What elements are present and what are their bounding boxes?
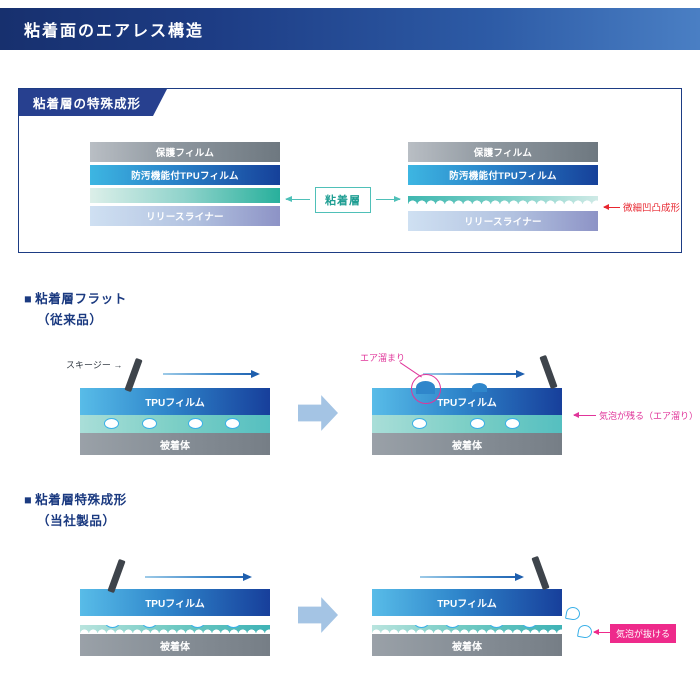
motion-arrow bbox=[145, 576, 250, 578]
page-title: 粘着面のエアレス構造 bbox=[0, 17, 204, 41]
tpu-film-band: TPUフィルム bbox=[372, 388, 562, 415]
substrate-band: 被着体 bbox=[372, 634, 562, 656]
pink-arrow-icon bbox=[574, 415, 596, 416]
air-bubble bbox=[142, 418, 157, 429]
air-pocket-annotation-label: エア溜まり bbox=[360, 351, 405, 364]
air-bubble bbox=[470, 418, 485, 429]
panel-tab-label: 粘着層の特殊成形 bbox=[19, 89, 167, 116]
squeegee-icon bbox=[539, 355, 557, 389]
page-header: 粘着面のエアレス構造 bbox=[0, 8, 700, 50]
substrate-band: 被着体 bbox=[80, 634, 270, 656]
adhesive-arrow-left bbox=[286, 199, 310, 200]
layer-release-liner: リリースライナー bbox=[408, 211, 598, 231]
escaping-bubble bbox=[565, 606, 581, 621]
process-chevron-icon bbox=[298, 596, 338, 634]
diagram-flat-before: TPUフィルム 被着体 bbox=[80, 388, 270, 455]
air-bubble bbox=[522, 617, 537, 628]
layer-adhesive-textured bbox=[408, 188, 598, 205]
page-root: 粘着面のエアレス構造 粘着層の特殊成形 保護フィルム 防汚機能付TPUフィルム … bbox=[0, 0, 700, 700]
bullet-marker-icon: ■ bbox=[24, 493, 32, 507]
air-escape-annotation-label: 気泡が抜ける bbox=[610, 624, 676, 643]
adhesive-callout-label: 粘着層 bbox=[315, 187, 371, 213]
air-bubble bbox=[412, 418, 427, 429]
tpu-film-band: TPUフィルム bbox=[80, 589, 270, 616]
squeegee-icon bbox=[531, 556, 549, 590]
air-bubble bbox=[445, 617, 460, 628]
section-subheading-flat: （従来品） bbox=[24, 309, 103, 328]
section-heading-formed-label: 粘着層特殊成形 bbox=[35, 493, 127, 507]
tpu-film-band: TPUフィルム bbox=[372, 589, 562, 616]
layer-protective-film: 保護フィルム bbox=[90, 142, 280, 162]
section-subheading-formed: （当社製品） bbox=[24, 510, 116, 529]
air-bubble bbox=[188, 418, 203, 429]
layer-stack-right: 保護フィルム 防汚機能付TPUフィルム リリースライナー bbox=[408, 142, 598, 234]
tpu-film-band: TPUフィルム bbox=[80, 388, 270, 415]
trapped-air-annotation-label: 気泡が残る（エア溜り） bbox=[599, 409, 698, 422]
trapped-air-annotation: 気泡が残る（エア溜り） bbox=[574, 409, 698, 422]
air-bubble bbox=[489, 617, 504, 628]
diagram-formed-after: TPUフィルム 被着体 bbox=[372, 589, 562, 656]
air-bubble bbox=[105, 617, 120, 628]
adhesive-arrow-right bbox=[376, 199, 400, 200]
diagram-flat-after: TPUフィルム 被着体 bbox=[372, 388, 562, 455]
layer-stack-left: 保護フィルム 防汚機能付TPUフィルム リリースライナー bbox=[90, 142, 280, 229]
air-bulge bbox=[472, 383, 487, 392]
motion-arrow bbox=[420, 576, 522, 578]
layer-tpu-film: 防汚機能付TPUフィルム bbox=[90, 165, 280, 185]
motion-arrow bbox=[423, 373, 523, 375]
process-chevron-icon bbox=[298, 394, 338, 432]
red-arrow-icon bbox=[604, 207, 620, 208]
motion-arrow bbox=[163, 373, 258, 375]
layer-release-liner: リリースライナー bbox=[90, 206, 280, 226]
section-heading-flat-label: 粘着層フラット bbox=[35, 292, 127, 306]
air-bubble bbox=[225, 418, 240, 429]
air-bubble bbox=[505, 418, 520, 429]
air-pocket-highlight-circle bbox=[411, 374, 441, 404]
pink-badge-arrow-icon bbox=[594, 632, 610, 633]
air-bubble bbox=[414, 617, 429, 628]
substrate-band: 被着体 bbox=[372, 433, 562, 455]
micro-texture-annotation-label: 微細凹凸成形 bbox=[623, 200, 680, 214]
adhesive-band-flat bbox=[372, 415, 562, 433]
air-bubble bbox=[226, 617, 241, 628]
adhesive-band-textured bbox=[372, 616, 562, 634]
layer-adhesive-flat bbox=[90, 188, 280, 203]
section-heading-flat: ■粘着層フラット bbox=[24, 288, 127, 307]
layer-protective-film: 保護フィルム bbox=[408, 142, 598, 162]
air-bubble bbox=[104, 418, 119, 429]
diagram-formed-before: TPUフィルム 被着体 bbox=[80, 589, 270, 656]
substrate-band: 被着体 bbox=[80, 433, 270, 455]
section-heading-formed: ■粘着層特殊成形 bbox=[24, 489, 127, 508]
escaping-bubble bbox=[577, 624, 593, 639]
adhesive-band-flat bbox=[80, 415, 270, 433]
air-bubble bbox=[190, 617, 205, 628]
micro-texture-annotation: 微細凹凸成形 bbox=[604, 200, 680, 214]
air-bubble bbox=[142, 617, 157, 628]
bullet-marker-icon: ■ bbox=[24, 292, 32, 306]
layer-adhesive-textured-wrap bbox=[408, 188, 598, 205]
squeegee-label: スキージー → bbox=[66, 358, 122, 371]
layer-tpu-film: 防汚機能付TPUフィルム bbox=[408, 165, 598, 185]
adhesive-band-textured bbox=[80, 616, 270, 634]
